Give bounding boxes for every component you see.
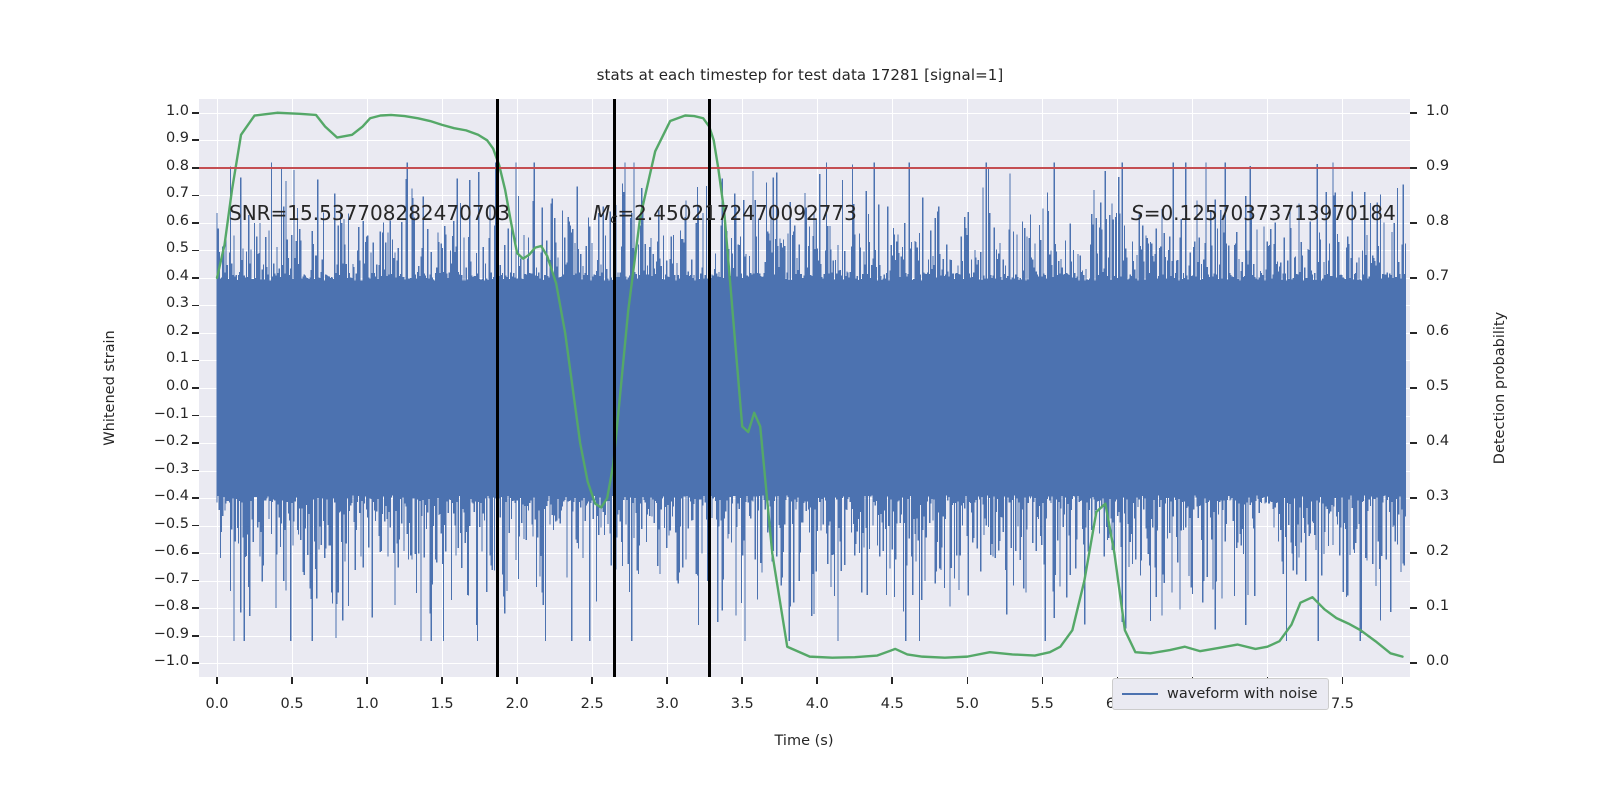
y-axis-left-tick-mark (192, 525, 199, 527)
y-axis-right-tick-label: 0.5 (1426, 378, 1466, 394)
x-axis-tick-mark (967, 677, 969, 684)
annotation-mc-value: =2.4502172470092773 (617, 201, 856, 225)
x-axis-tick-mark (441, 677, 443, 684)
x-axis-label: Time (s) (775, 733, 834, 749)
y-axis-left-tick-label: 0.5 (151, 240, 189, 256)
y-axis-left-tick-mark (192, 662, 199, 664)
y-axis-left-tick-label: −0.2 (151, 433, 189, 449)
y-axis-right-tick-label: 0.9 (1426, 158, 1466, 174)
x-axis-tick-mark (366, 677, 368, 684)
x-axis-tick-mark (516, 677, 518, 684)
y-axis-right-tick-mark (1410, 662, 1417, 664)
y-axis-left-tick-label: 0.0 (151, 378, 189, 394)
annotation-score: S=0.12570373713970184 (1131, 201, 1396, 225)
y-axis-left-tick-mark (192, 167, 199, 169)
marker-layer (199, 99, 1410, 677)
x-axis-tick-mark (216, 677, 218, 684)
y-axis-right-tick-mark (1410, 332, 1417, 334)
y-axis-left-tick-mark (192, 222, 199, 224)
y-axis-left-tick-label: 0.4 (151, 268, 189, 284)
annotation-chirp-mass: Mc=2.4502172470092773 (593, 201, 857, 227)
x-axis-tick-label: 0.5 (262, 696, 322, 712)
y-axis-right-tick-mark (1410, 497, 1417, 499)
legend-line-icon (1122, 693, 1158, 695)
y-axis-right-tick-mark (1410, 442, 1417, 444)
annotation-mc-symbol: M (593, 201, 610, 225)
y-axis-left-tick-mark (192, 250, 199, 252)
x-axis-tick-label: 1.5 (412, 696, 472, 712)
y-axis-left-tick-label: 0.1 (151, 350, 189, 366)
y-axis-left-tick-label: 0.9 (151, 130, 189, 146)
y-axis-left-tick-mark (192, 470, 199, 472)
legend-label-waveform: waveform with noise (1167, 686, 1318, 702)
legend[interactable]: waveform with noise (1112, 678, 1329, 710)
y-axis-left-tick-label: 0.3 (151, 295, 189, 311)
y-axis-left-label: Whitened strain (102, 330, 118, 445)
x-axis-tick-label: 0.0 (187, 696, 247, 712)
annotation-snr-text: SNR=15.537708282470703 (229, 201, 510, 225)
y-axis-right-tick-label: 0.7 (1426, 268, 1466, 284)
y-axis-right-tick-label: 1.0 (1426, 103, 1466, 119)
y-axis-right-tick-mark (1410, 607, 1417, 609)
annotation-snr: SNR=15.537708282470703 (229, 201, 510, 225)
x-axis-tick-label: 4.5 (862, 696, 922, 712)
y-axis-right-tick-label: 0.8 (1426, 213, 1466, 229)
annotation-s-symbol: S (1131, 201, 1144, 225)
y-axis-left-tick-mark (192, 387, 199, 389)
y-axis-right-label: Detection probability (1492, 312, 1508, 464)
event-marker-line (496, 99, 499, 677)
y-axis-left-tick-label: −0.1 (151, 406, 189, 422)
x-axis-tick-mark (291, 677, 293, 684)
x-axis-tick-label: 2.0 (487, 696, 547, 712)
x-axis-tick-mark (1042, 677, 1044, 684)
y-axis-left-tick-mark (192, 497, 199, 499)
y-axis-left-tick-mark (192, 580, 199, 582)
event-marker-line (708, 99, 711, 677)
x-axis-tick-label: 2.5 (562, 696, 622, 712)
y-axis-left-tick-mark (192, 635, 199, 637)
y-axis-left-tick-label: −0.8 (151, 598, 189, 614)
y-axis-left-tick-label: −0.6 (151, 543, 189, 559)
y-axis-left-tick-mark (192, 552, 199, 554)
x-axis-tick-mark (816, 677, 818, 684)
x-axis-tick-label: 3.5 (712, 696, 772, 712)
y-axis-left-tick-label: −1.0 (151, 653, 189, 669)
y-axis-right-tick-label: 0.4 (1426, 433, 1466, 449)
y-axis-left-tick-label: 0.7 (151, 185, 189, 201)
y-axis-left-tick-mark (192, 139, 199, 141)
y-axis-right-tick-label: 0.1 (1426, 598, 1466, 614)
y-axis-left-tick-label: 1.0 (151, 103, 189, 119)
event-marker-line (613, 99, 616, 677)
y-axis-right-tick-mark (1410, 112, 1417, 114)
y-axis-right-tick-label: 0.2 (1426, 543, 1466, 559)
y-axis-left-tick-label: −0.3 (151, 461, 189, 477)
x-axis-tick-mark (741, 677, 743, 684)
x-axis-tick-mark (1342, 677, 1344, 684)
y-axis-right-tick-mark (1410, 387, 1417, 389)
y-axis-right-tick-mark (1410, 222, 1417, 224)
y-axis-left-tick-label: −0.4 (151, 488, 189, 504)
y-axis-right-tick-mark (1410, 552, 1417, 554)
x-axis-tick-mark (591, 677, 593, 684)
x-axis-tick-label: 3.0 (637, 696, 697, 712)
page-title: stats at each timestep for test data 172… (0, 66, 1600, 84)
y-axis-left-tick-mark (192, 442, 199, 444)
y-axis-left-tick-mark (192, 415, 199, 417)
y-axis-left-tick-mark (192, 277, 199, 279)
y-axis-left-tick-label: 0.6 (151, 213, 189, 229)
y-axis-left-tick-label: 0.8 (151, 158, 189, 174)
threshold-line (199, 167, 1410, 169)
y-axis-right-tick-label: 0.3 (1426, 488, 1466, 504)
y-axis-left-tick-mark (192, 112, 199, 114)
y-axis-left-tick-label: 0.2 (151, 323, 189, 339)
y-axis-left-tick-mark (192, 305, 199, 307)
figure-canvas: stats at each timestep for test data 172… (0, 0, 1600, 800)
x-axis-tick-mark (891, 677, 893, 684)
x-axis-tick-label: 1.0 (337, 696, 397, 712)
y-axis-right-tick-mark (1410, 167, 1417, 169)
y-axis-right-tick-label: 0.0 (1426, 653, 1466, 669)
y-axis-left-tick-mark (192, 332, 199, 334)
annotation-s-value: =0.12570373713970184 (1144, 201, 1396, 225)
y-axis-left-tick-label: −0.9 (151, 626, 189, 642)
y-axis-right-tick-mark (1410, 277, 1417, 279)
y-axis-left-tick-mark (192, 607, 199, 609)
x-axis-tick-label: 5.5 (1012, 696, 1072, 712)
y-axis-left-tick-label: −0.7 (151, 571, 189, 587)
y-axis-right-tick-label: 0.6 (1426, 323, 1466, 339)
plot-area: SNR=15.537708282470703 Mc=2.450217247009… (199, 99, 1410, 677)
y-axis-left-tick-mark (192, 360, 199, 362)
x-axis-tick-label: 4.0 (787, 696, 847, 712)
x-axis-tick-mark (666, 677, 668, 684)
y-axis-left-tick-mark (192, 195, 199, 197)
x-axis-tick-label: 5.0 (937, 696, 997, 712)
y-axis-left-tick-label: −0.5 (151, 516, 189, 532)
